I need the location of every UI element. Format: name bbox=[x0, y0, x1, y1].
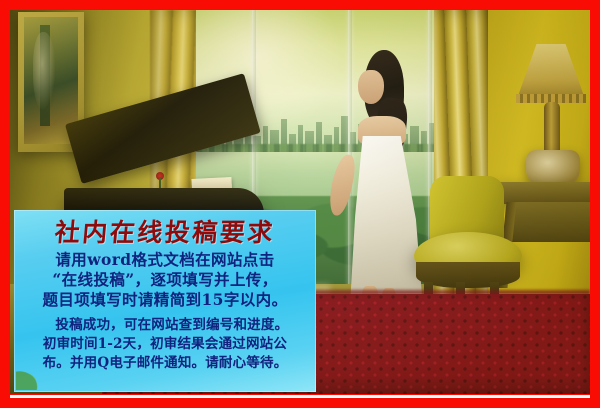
notice-panel: 社内在线投稿要求 请用word格式文档在网站点击 “在线投稿”，逐项填写并上传，… bbox=[14, 210, 316, 392]
notice-line-2: “在线投稿”，逐项填写并上传， bbox=[14, 270, 316, 290]
plant-leaf-decoration bbox=[16, 360, 50, 390]
artwork-stripe bbox=[40, 25, 50, 127]
lamp-body bbox=[544, 102, 560, 156]
poster-image: 社内在线投稿要求 请用word格式文档在网站点击 “在线投稿”，逐项填写并上传，… bbox=[0, 0, 600, 408]
notice-line-6: 布。并用Q电子邮件通知。请耐心等待。 bbox=[14, 354, 316, 373]
white-dress bbox=[346, 136, 422, 296]
console-drawer bbox=[510, 202, 590, 242]
console-table bbox=[492, 182, 590, 204]
notice-line-3: 题目项填写时请精简到15字以内。 bbox=[14, 290, 316, 310]
notice-title: 社内在线投稿要求 bbox=[14, 213, 316, 249]
notice-line-1: 请用word格式文档在网站点击 bbox=[14, 250, 316, 270]
woman-face bbox=[358, 70, 384, 104]
notice-line-5: 初审时间1-2天，初审结果会通过网站公 bbox=[14, 335, 316, 354]
lamp-base bbox=[526, 150, 580, 186]
notice-line-4: 投稿成功，可在网站查到编号和进度。 bbox=[14, 316, 316, 335]
bottom-white-strip bbox=[10, 395, 590, 398]
